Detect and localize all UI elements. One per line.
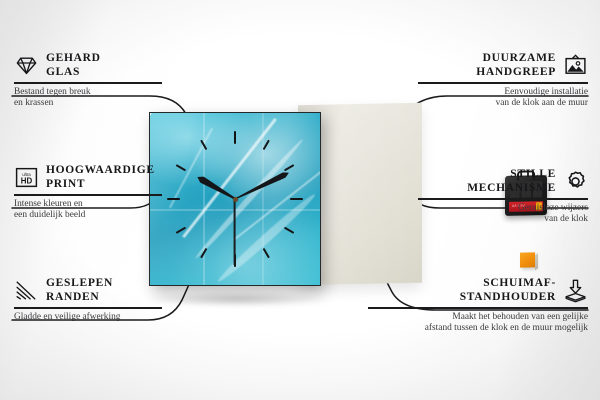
clock-dial [150, 113, 320, 285]
feature-title: GEHARD GLAS [46, 52, 101, 79]
title-rule [14, 307, 162, 309]
feature-duurzame-handgreep: DUURZAME HANDGREEP Eenvoudige installati… [418, 52, 588, 110]
title-rule [14, 82, 162, 84]
feature-gehard-glas: GEHARD GLAS Bestand tegen breuk en krass… [14, 52, 162, 110]
feature-description: Gladde en veilige afwerking [14, 312, 162, 324]
beveled-edges-icon [14, 278, 39, 303]
gear-icon [563, 169, 588, 194]
feature-stille-mechanisme: STILLE MECHANISME Geruisloze wijzers van… [418, 168, 588, 226]
clock-front-glass-panel [149, 112, 321, 286]
feature-geslepen-randen: GESLEPEN RANDEN Gladde en veilige afwerk… [14, 277, 162, 323]
foam-spacer-icon [563, 278, 588, 303]
product-shadow [146, 288, 406, 310]
title-rule [368, 307, 588, 309]
title-rule [14, 194, 162, 196]
clock-center-cap [233, 197, 238, 202]
feature-title: STILLE MECHANISME [467, 168, 556, 195]
svg-text:HD: HD [21, 176, 33, 185]
framed-picture-icon [563, 53, 588, 78]
ultra-hd-icon: ultra HD [14, 165, 39, 190]
feature-title: HOOGWAARDIGE PRINT [46, 164, 155, 191]
clock-tick [234, 131, 236, 199]
feature-hoogwaardige-print: ultra HD HOOGWAARDIGE PRINT Intense kleu… [14, 164, 162, 222]
feature-description: Geruisloze wijzers van de klok [418, 203, 588, 226]
diamond-icon [14, 53, 39, 78]
feature-description: Maakt het behouden van een gelijke afsta… [368, 312, 588, 335]
clock-tick [176, 198, 236, 234]
clock-tick [167, 198, 235, 200]
product-photo: AA 1.5V [128, 92, 428, 307]
title-rule [418, 82, 588, 84]
foam-spacer-pad [520, 252, 535, 267]
feature-title: SCHUIMAF- STANDHOUDER [460, 277, 556, 304]
product-infographic: AA 1.5V [0, 0, 600, 400]
feature-description: Eenvoudige installatie van de klok aan d… [418, 87, 588, 110]
feature-title: GESLEPEN RANDEN [46, 277, 113, 304]
feature-schuimaf-standhouder: SCHUIMAF- STANDHOUDER Maakt het behouden… [368, 277, 588, 335]
title-rule [418, 198, 588, 200]
clock-second-hand [234, 199, 236, 265]
feature-title: DUURZAME HANDGREEP [476, 52, 556, 79]
clock-tick [235, 198, 303, 200]
feature-description: Intense kleuren en een duidelijk beeld [14, 199, 162, 222]
feature-description: Bestand tegen breuk en krassen [14, 87, 162, 110]
